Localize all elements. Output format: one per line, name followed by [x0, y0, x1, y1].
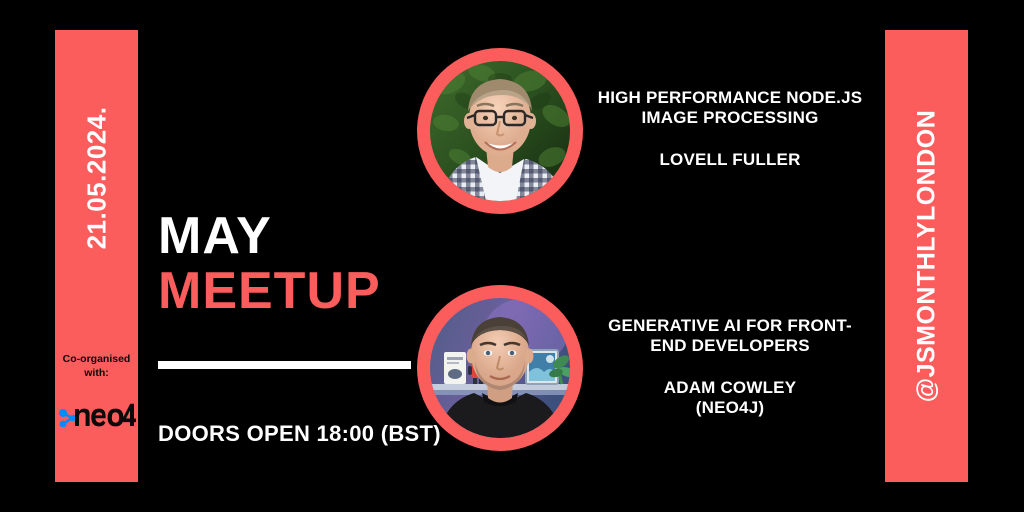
talk-1-title-line-2: IMAGE PROCESSING	[570, 108, 890, 128]
page-title: MAY MEETUP	[158, 212, 381, 317]
headline-line-2: MEETUP	[158, 267, 381, 316]
event-poster: 21.05.2024. Co-organised with:	[0, 0, 1024, 512]
neo4j-logo	[55, 392, 138, 432]
talk-2-title: GENERATIVE AI FOR FRONT- END DEVELOPERS	[570, 316, 890, 356]
speaker-avatar-1	[417, 48, 583, 214]
neo4j-wordmark	[75, 404, 136, 427]
talk-1-title-line-1: HIGH PERFORMANCE NODE.JS	[570, 88, 890, 108]
event-date: 21.05.2024.	[81, 107, 112, 250]
speaker-photo-adam-cowley	[430, 298, 570, 438]
headline-line-1: MAY	[158, 212, 381, 261]
coorganised-label: Co-organised with:	[55, 352, 138, 380]
coorganised-line-1: Co-organised	[55, 352, 138, 366]
talk-1-speaker: LOVELL FULLER	[570, 150, 890, 170]
social-handle: @JSMONTHLYLONDON	[912, 110, 941, 403]
talk-2-title-line-1: GENERATIVE AI FOR FRONT-	[570, 316, 890, 336]
doors-open-time: DOORS OPEN 18:00 (BST)	[158, 421, 441, 447]
talk-2-speaker-line-1: ADAM COWLEY	[570, 378, 890, 398]
talk-1: HIGH PERFORMANCE NODE.JS IMAGE PROCESSIN…	[570, 88, 890, 170]
divider-rule	[158, 361, 411, 369]
speaker-photo-lovell-fuller	[430, 61, 570, 201]
talk-2-title-line-2: END DEVELOPERS	[570, 336, 890, 356]
neo4j-connector-mark	[59, 409, 76, 427]
speaker-avatar-2	[417, 285, 583, 451]
talk-2-speaker: ADAM COWLEY (NEO4J)	[570, 378, 890, 418]
talk-2: GENERATIVE AI FOR FRONT- END DEVELOPERS …	[570, 316, 890, 418]
talk-1-speaker-line-1: LOVELL FULLER	[570, 150, 890, 170]
talk-1-title: HIGH PERFORMANCE NODE.JS IMAGE PROCESSIN…	[570, 88, 890, 128]
talk-2-speaker-line-2: (NEO4J)	[570, 398, 890, 418]
right-accent-bar: @JSMONTHLYLONDON	[885, 30, 968, 482]
coorganised-line-2: with:	[55, 366, 138, 380]
